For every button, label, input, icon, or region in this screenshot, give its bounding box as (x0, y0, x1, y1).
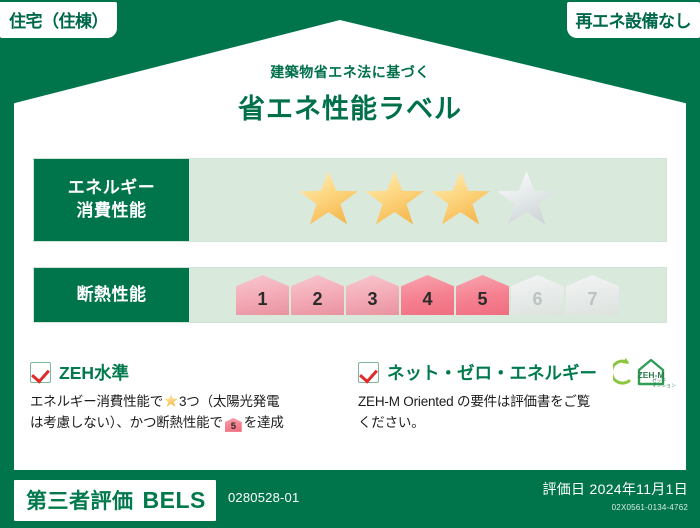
third-party-evaluation-label: 第三者評価 (26, 485, 134, 515)
page-title: 省エネ性能ラベル (0, 87, 700, 126)
zeh-desc-star-count: 3つ（太陽光発電 (179, 394, 279, 409)
insulation-grade-scale: 1234567 (189, 268, 666, 322)
renewable-equipment-tag: 再エネ設備なし (567, 2, 700, 38)
insulation-grade-achieved: 2 (291, 275, 344, 315)
footer-bar: 第三者評価 BELS 0280528-01 評価日 2024年11月1日 02X… (0, 470, 700, 528)
insulation-performance-label-cell: 断熱性能 (34, 268, 189, 322)
star-filled-icon (431, 171, 491, 229)
bels-plate: 第三者評価 BELS (14, 480, 216, 521)
zeh-standard-title: ZEH水準 (59, 360, 129, 385)
star-empty-icon (497, 171, 557, 229)
title-block: 建築物省エネ法に基づく 省エネ性能ラベル (0, 62, 700, 126)
net-zero-energy-description: ZEH-M Oriented の要件は評価書をご覧 ください。 (358, 392, 673, 434)
nze-desc-line1: ZEH-M Oriented の要件は評価書をご覧 (358, 394, 590, 409)
mini-star-icon (164, 394, 178, 408)
bels-certificate-number: 0280528-01 (228, 490, 299, 505)
bels-logo-text: BELS (143, 487, 206, 514)
insulation-grade-inactive: 6 (511, 275, 564, 315)
check-icon (30, 362, 51, 383)
star-filled-icon (299, 171, 359, 229)
energy-performance-row: エネルギー 消費性能 (33, 158, 667, 242)
star-rating (189, 159, 666, 241)
insulation-grade-achieved: 4 (401, 275, 454, 315)
insulation-grade-achieved: 5 (456, 275, 509, 315)
building-type-tag: 住宅（住棟） (0, 2, 117, 38)
insulation-grade-achieved: 3 (346, 275, 399, 315)
zeh-desc-part3: を達成 (244, 415, 284, 430)
label-subtitle: 建築物省エネ法に基づく (0, 62, 700, 82)
zeh-desc-part2: は考慮しない）、かつ断熱性能で (30, 415, 223, 430)
evaluation-id: 02X0561-0134-4762 (542, 503, 688, 512)
zeh-standard-header: ZEH水準 (30, 360, 335, 385)
star-filled-icon (365, 171, 425, 229)
net-zero-energy-title: ネット・ゼロ・エネルギー (387, 360, 597, 385)
insulation-grade-achieved: 1 (236, 275, 289, 315)
insulation-performance-row: 断熱性能 1234567 (33, 267, 667, 323)
energy-performance-label: 住宅（住棟） 再エネ設備なし 建築物省エネ法に基づく 省エネ性能ラベル エネルギ… (0, 0, 700, 528)
check-icon (358, 362, 379, 383)
net-zero-energy-block: ネット・ゼロ・エネルギー ZEH-M ゼッチマンション ZEH-M Orient… (358, 360, 673, 434)
zeh-standard-description: エネルギー消費性能で3つ（太陽光発電 は考慮しない）、かつ断熱性能で5を達成 (30, 392, 335, 434)
energy-performance-label-cell: エネルギー 消費性能 (34, 159, 189, 241)
zeh-standard-block: ZEH水準 エネルギー消費性能で3つ（太陽光発電 は考慮しない）、かつ断熱性能で… (30, 360, 335, 434)
evaluation-date: 評価日 2024年11月1日 (542, 479, 688, 499)
zeh-m-logo-subtext: ゼッチマンション (652, 378, 676, 389)
insulation-label: 断熱性能 (77, 284, 147, 307)
insulation-grade-inactive: 7 (566, 275, 619, 315)
zeh-desc-part1: エネルギー消費性能で (30, 394, 163, 409)
energy-label-line2: 消費性能 (77, 200, 147, 223)
net-zero-energy-header: ネット・ゼロ・エネルギー ZEH-M ゼッチマンション (358, 360, 673, 385)
evaluation-info: 評価日 2024年11月1日 02X0561-0134-4762 (542, 479, 688, 512)
energy-label-line1: エネルギー (68, 177, 156, 200)
zeh-m-logo-icon: ZEH-M ゼッチマンション (613, 356, 675, 390)
nze-desc-line2: ください。 (358, 415, 425, 430)
mini-grade-badge-icon: 5 (225, 418, 242, 432)
